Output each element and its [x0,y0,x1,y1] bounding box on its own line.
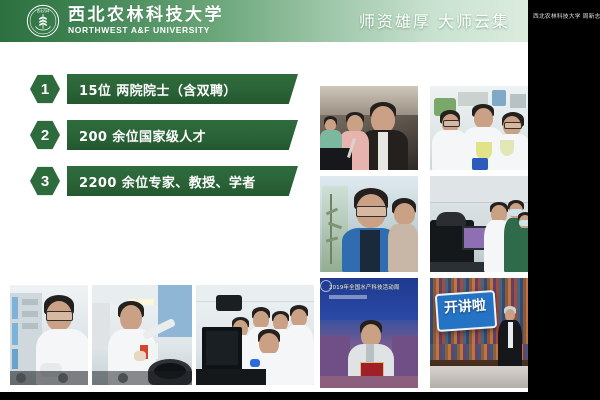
list-item-label: 15位 两院院士（含双聘） [67,80,237,99]
list-item: 3 2200 余位专家、教授、学者 [30,166,298,196]
photo-lab-microscope [10,285,88,385]
list-item: 1 15位 两院院士（含双聘） [30,74,298,104]
list-item-number: 1 [41,82,49,97]
photo-caption-overlay: 开讲啦 [444,299,487,316]
photo-content [430,86,528,170]
photo-content [320,176,418,272]
list-item-badge: 3 [30,166,60,196]
photo-content [196,285,314,385]
screen: 西北农林 西北农林科技大学 NORTHWEST A&F UNIVERSITY 师… [0,0,600,400]
right-black-rail: 西北农林科技大学 周新志 [528,0,600,400]
header-slogan: 师资雄厚 大师云集 [359,8,510,32]
photo-lab-instrument [430,176,528,272]
list-item-bar: 200 余位国家级人才 [67,120,298,150]
list-item-bar: 15位 两院院士（含双聘） [67,74,298,104]
svg-text:西北农林: 西北农林 [37,8,49,13]
photo-award-ceremony: 2019年全国水产科技活动周 [320,278,418,388]
photo-content: 2019年全国水产科技活动周 [320,278,418,388]
photo-content [92,285,192,385]
slide-header: 西北农林 西北农林科技大学 NORTHWEST A&F UNIVERSITY 师… [0,0,528,42]
presentation-slide: 西北农林 西北农林科技大学 NORTHWEST A&F UNIVERSITY 师… [0,0,528,392]
photo-tv-lecture: 开讲啦 [430,278,528,388]
university-crest-icon: 西北农林 [26,4,60,38]
photo-content [320,86,418,170]
university-branding: 西北农林 西北农林科技大学 NORTHWEST A&F UNIVERSITY [26,4,224,38]
photo-caption-overlay: 2019年全国水产科技活动周 [329,286,399,291]
list-item: 2 200 余位国家级人才 [30,120,298,150]
list-item-badge: 1 [30,74,60,104]
list-item-badge: 2 [30,120,60,150]
rail-caption: 西北农林科技大学 周新志 [533,13,593,20]
photo-content: 开讲啦 [430,278,528,388]
photo-field-researcher [320,176,418,272]
photo-meeting-speaker [320,86,418,170]
photo-content [430,176,528,272]
photo-lab-group-monitor [196,285,314,385]
list-item-label: 200 余位国家级人才 [67,126,206,145]
bottom-black-bar [0,392,600,400]
list-item-number: 2 [41,128,49,143]
university-name-cn: 西北农林科技大学 [68,7,224,24]
highlight-list: 1 15位 两院院士（含双聘） 2 200 余位国家级人才 3 [30,74,298,212]
photo-lab-flask-team [430,86,528,170]
list-item-label: 2200 余位专家、教授、学者 [67,172,256,191]
wordmark: 西北农林科技大学 NORTHWEST A&F UNIVERSITY [68,7,224,35]
photo-content [10,285,88,385]
photo-lab-centrifuge [92,285,192,385]
list-item-number: 3 [41,174,49,189]
list-item-bar: 2200 余位专家、教授、学者 [67,166,298,196]
university-name-en: NORTHWEST A&F UNIVERSITY [68,26,224,35]
